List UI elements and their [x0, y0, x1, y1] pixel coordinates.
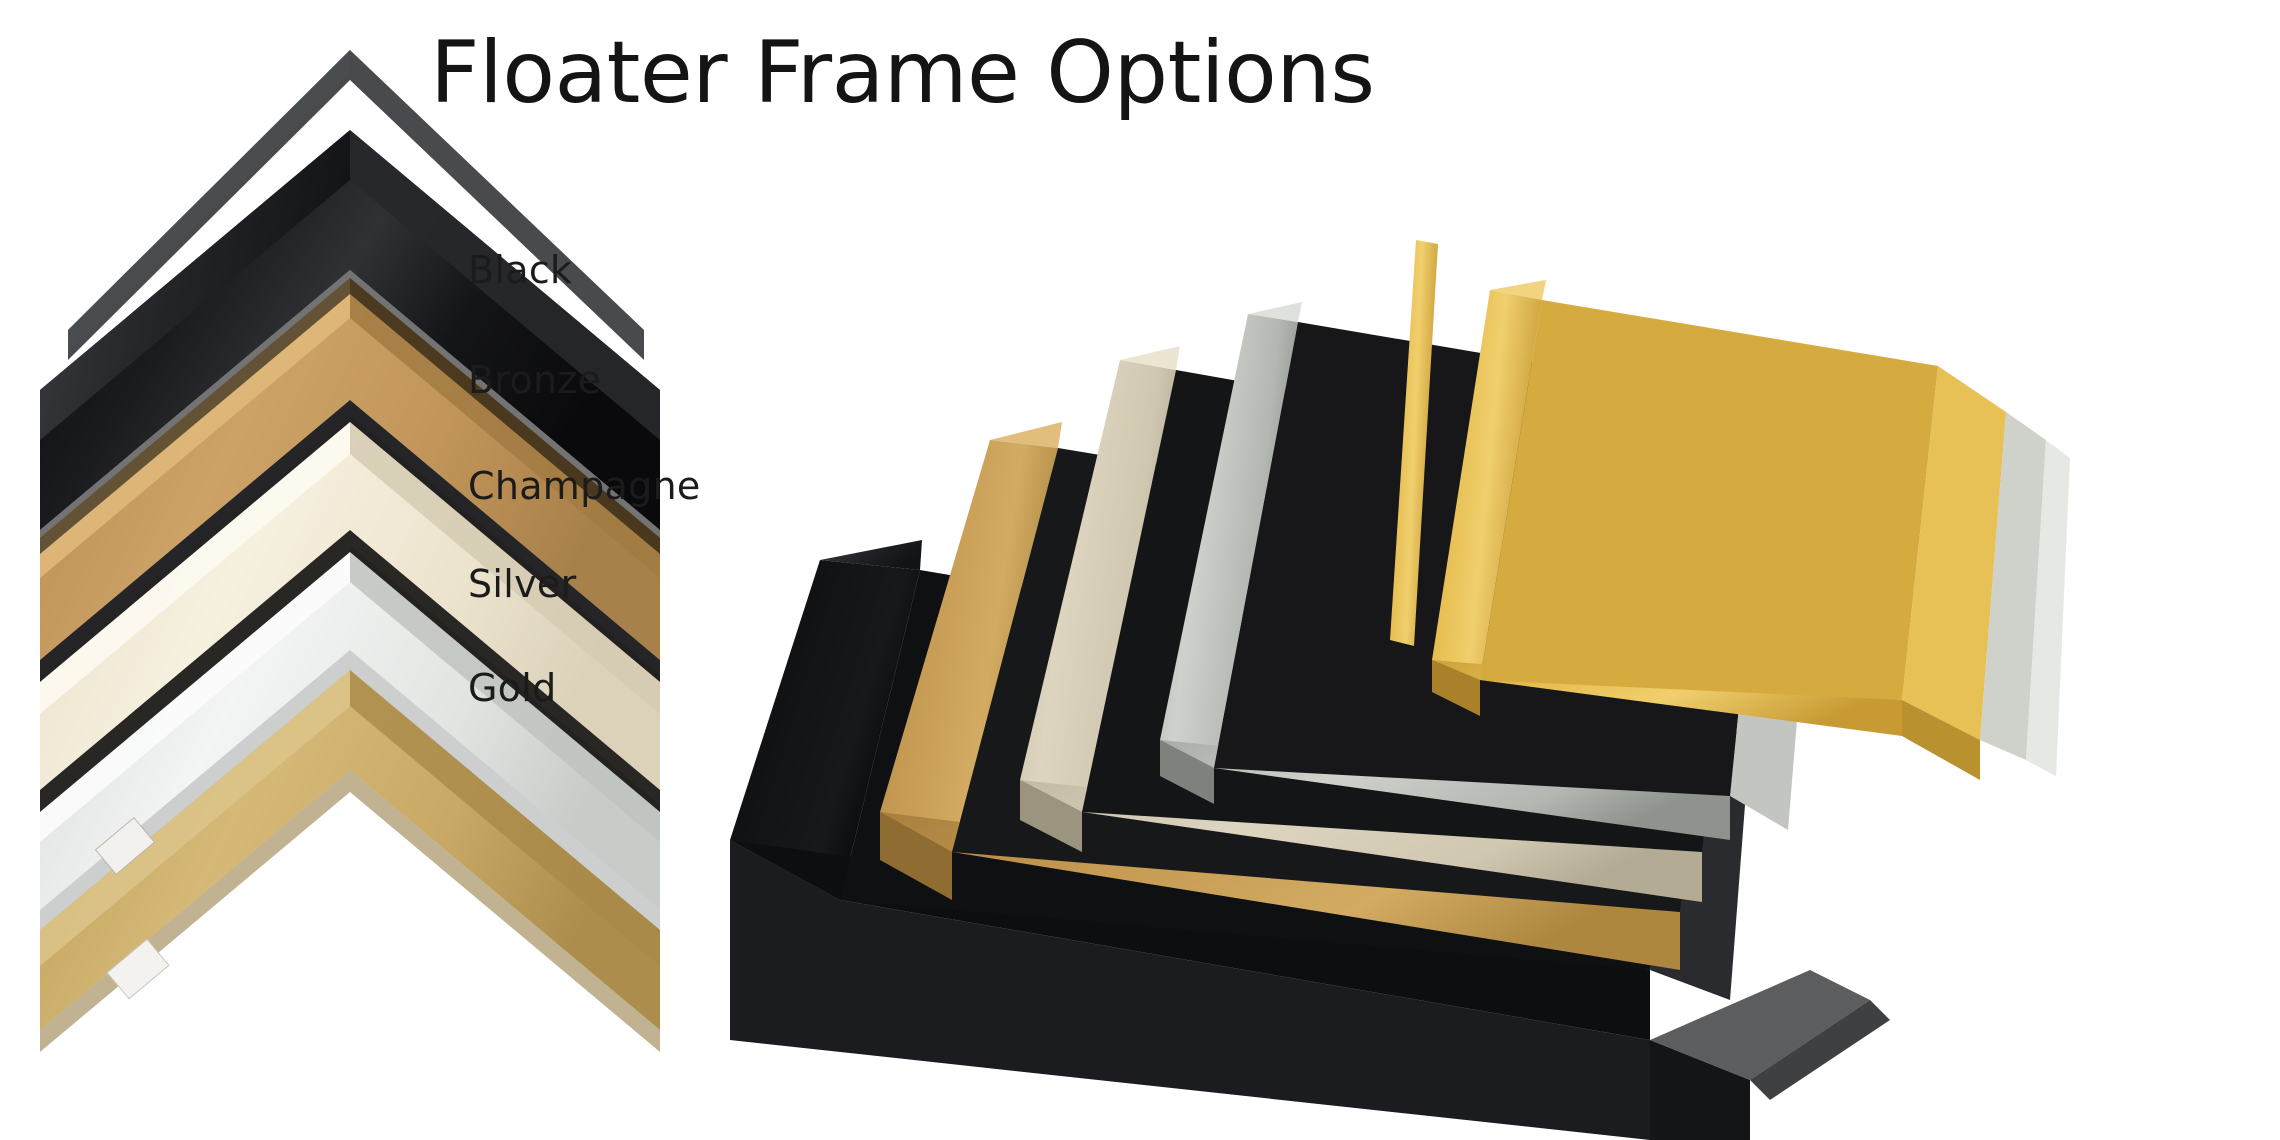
right-frame-nest-photo: [690, 140, 2270, 1140]
right-frame-nest-svg: [690, 140, 2270, 1140]
swatch-label-silver: Silver: [468, 562, 577, 606]
slide-canvas: Floater Frame Options: [0, 0, 2280, 1140]
swatch-label-black: Black: [468, 248, 572, 292]
swatch-label-gold: Gold: [468, 666, 557, 710]
swatch-label-champagne: Champagne: [468, 464, 701, 508]
swatch-label-bronze: Bronze: [468, 358, 601, 402]
